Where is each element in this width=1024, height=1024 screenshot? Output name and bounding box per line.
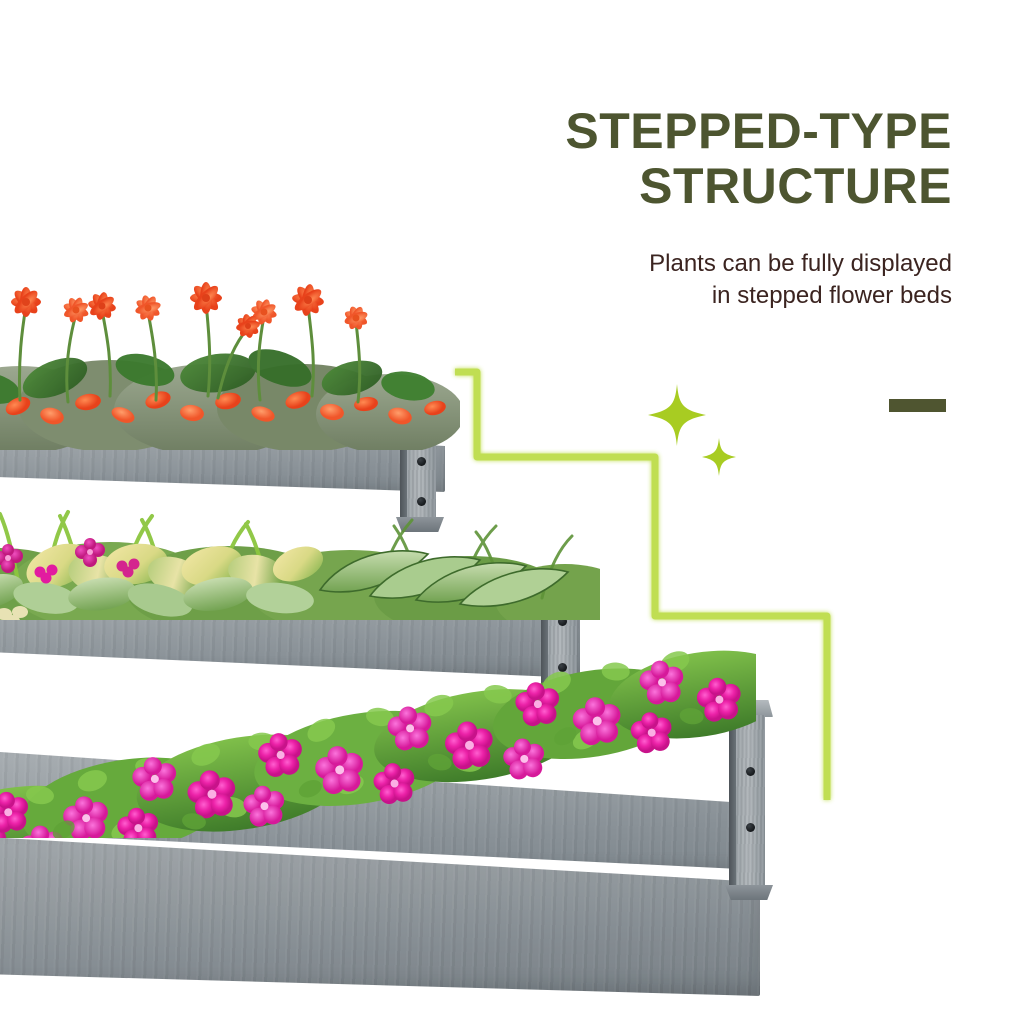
feature-text-block: STEPPED-TYPE STRUCTURE Plants can be ful… bbox=[482, 104, 952, 311]
subtitle-line-2: in stepped flower beds bbox=[712, 282, 952, 309]
post-foot bbox=[725, 885, 773, 900]
bottom-tier-planting bbox=[0, 608, 756, 838]
feature-subtitle: Plants can be fully displayed in stepped… bbox=[482, 248, 952, 311]
subtitle-line-1: Plants can be fully displayed bbox=[649, 250, 952, 277]
page-title: STEPPED-TYPE STRUCTURE bbox=[482, 104, 952, 214]
top-tier-foliage-svg bbox=[0, 210, 460, 450]
headline-line-2: STRUCTURE bbox=[639, 158, 952, 214]
sparkle-large-shape bbox=[648, 384, 706, 446]
sparkle-large-icon bbox=[648, 384, 706, 446]
top-tier-planting bbox=[0, 210, 460, 450]
sparkle-small-shape bbox=[702, 438, 736, 476]
bottom-tier-foliage-svg bbox=[0, 608, 756, 838]
olive-dash-accent bbox=[889, 399, 946, 412]
headline-line-1: STEPPED-TYPE bbox=[565, 103, 952, 159]
blue-flower-accent bbox=[0, 378, 12, 448]
sparkle-small-icon bbox=[702, 438, 736, 476]
blue-flower-svg bbox=[0, 378, 12, 448]
middle-tier-foliage-svg bbox=[0, 440, 600, 620]
middle-tier-planting bbox=[0, 440, 600, 620]
product-feature-image: STEPPED-TYPE STRUCTURE Plants can be ful… bbox=[0, 0, 1024, 1024]
